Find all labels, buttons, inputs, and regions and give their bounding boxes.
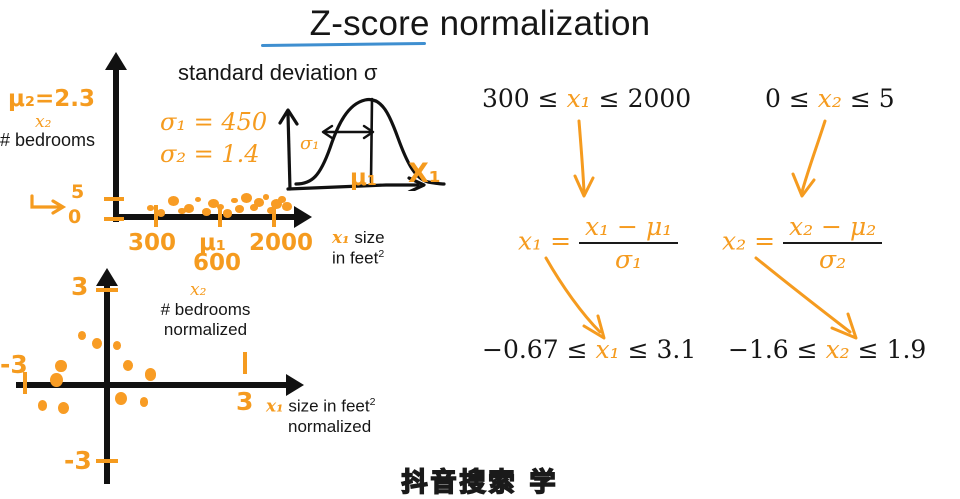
- formula-x1-bar: [579, 242, 678, 244]
- plot-raw-xtick-label-300: 300: [128, 230, 176, 256]
- formula-x1-numerator: x₁ − μ₁: [579, 212, 678, 241]
- data-point: [123, 360, 133, 371]
- arrow-down-x2-icon: [790, 118, 850, 208]
- range-after-x1-upper: 3.1: [656, 335, 696, 364]
- plot-norm-scatter: [0, 260, 330, 484]
- plot-norm-xaxis-caption-sup: 2: [370, 396, 376, 408]
- data-point: [282, 202, 292, 210]
- data-point: [113, 341, 121, 350]
- range-after-x2-lower: −1.6: [728, 335, 789, 364]
- data-point: [195, 197, 201, 203]
- data-point: [223, 209, 233, 217]
- data-point: [147, 205, 153, 211]
- sigma2-value: σ₂ = 1.4: [160, 140, 260, 168]
- plot-raw-xaxis-caption: x₁ size in feet2: [332, 228, 385, 269]
- plot-raw-xtick-label-2000: 2000: [249, 230, 313, 256]
- data-point: [58, 402, 69, 414]
- formula-x2-lhs: x₂: [722, 227, 746, 256]
- data-point: [235, 205, 244, 213]
- data-point: [50, 373, 63, 387]
- data-point: [115, 392, 128, 406]
- plot-raw-yaxis-label: # bedrooms: [0, 130, 95, 151]
- data-point: [78, 331, 86, 340]
- data-point: [263, 194, 269, 200]
- sigma1-value: σ₁ = 450: [160, 108, 267, 136]
- range-after-x2: −1.6 ≤ x₂ ≤ 1.9: [728, 335, 926, 364]
- range-before-x1: 300 ≤ x₁ ≤ 2000: [482, 84, 691, 113]
- plot-raw-x-axis-arrow: [294, 206, 312, 228]
- range-after-x2-rel2: ≤: [858, 335, 879, 364]
- range-after-x1-rel1: ≤: [567, 335, 588, 364]
- data-point: [184, 204, 194, 212]
- range-after-x2-rel1: ≤: [797, 335, 818, 364]
- plot-raw-yaxis-var: x₂: [35, 112, 51, 132]
- page-title: Z-score normalization: [0, 4, 960, 44]
- formula-x2-bar: [783, 242, 882, 244]
- range-before-x1-rel1: ≤: [538, 84, 559, 113]
- data-point: [168, 196, 179, 205]
- range-before-x2: 0 ≤ x₂ ≤ 5: [765, 84, 895, 113]
- title-underline: [261, 42, 426, 47]
- page-title-rest: normalization: [430, 4, 651, 43]
- data-point: [140, 397, 148, 406]
- range-before-x2-upper: 5: [879, 84, 895, 113]
- range-before-x1-rel2: ≤: [599, 84, 620, 113]
- page-title-highlight: Z-score: [310, 4, 430, 43]
- data-point: [217, 204, 225, 211]
- range-before-x1-lower: 300: [482, 84, 530, 113]
- plot-raw-xaxis-caption-l1: size: [350, 228, 385, 247]
- data-point: [92, 338, 102, 349]
- plot-raw-xaxis-caption-sup: 2: [378, 248, 384, 260]
- data-point: [254, 198, 264, 206]
- range-before-x2-rel1: ≤: [789, 84, 810, 113]
- formula-x1-lhs: x₁: [518, 227, 542, 256]
- section-header-standard-deviation: standard deviation σ: [178, 60, 377, 86]
- bell-sigma-label: σ₁: [300, 133, 320, 154]
- data-point: [202, 208, 211, 216]
- range-after-x1-lower: −0.67: [482, 335, 559, 364]
- plot-raw-xaxis-caption-var: x₁: [332, 228, 350, 248]
- plot-raw-y-axis-arrow: [105, 52, 127, 70]
- range-before-x2-lower: 0: [765, 84, 781, 113]
- range-after-x2-upper: 1.9: [887, 335, 927, 364]
- bottom-watermark: 抖音搜索 学: [0, 462, 960, 499]
- plot-raw-pointer-arrow-icon: [28, 192, 74, 218]
- range-before-x1-upper: 2000: [628, 84, 692, 113]
- plot-raw-xaxis-caption-l2: in feet: [332, 249, 378, 268]
- range-before-x2-var: x₂: [818, 84, 842, 113]
- data-point: [55, 360, 66, 372]
- formula-x2-eq: =: [754, 227, 775, 256]
- range-before-x2-rel2: ≤: [850, 84, 871, 113]
- data-point: [231, 198, 237, 204]
- bell-mu-label: μ₁: [350, 165, 377, 191]
- data-point: [38, 400, 48, 411]
- arrow-down-x1-icon: [568, 118, 618, 208]
- mu2-annotation: μ₂=2.3: [8, 86, 95, 112]
- range-after-x1-var: x₁: [595, 335, 619, 364]
- range-after-x2-var: x₂: [826, 335, 850, 364]
- plot-raw-ytick-0: [104, 217, 124, 221]
- range-before-x1-var: x₁: [567, 84, 591, 113]
- formula-x1-eq: =: [550, 227, 571, 256]
- formula-x2-numerator: x₂ − μ₂: [783, 212, 882, 241]
- range-after-x1: −0.67 ≤ x₁ ≤ 3.1: [482, 335, 696, 364]
- data-point: [241, 193, 252, 202]
- plot-raw-scatter: [119, 190, 294, 216]
- data-point: [145, 368, 156, 380]
- bell-xaxis-label: X₁: [408, 158, 441, 189]
- range-after-x1-rel2: ≤: [628, 335, 649, 364]
- data-point: [157, 209, 166, 217]
